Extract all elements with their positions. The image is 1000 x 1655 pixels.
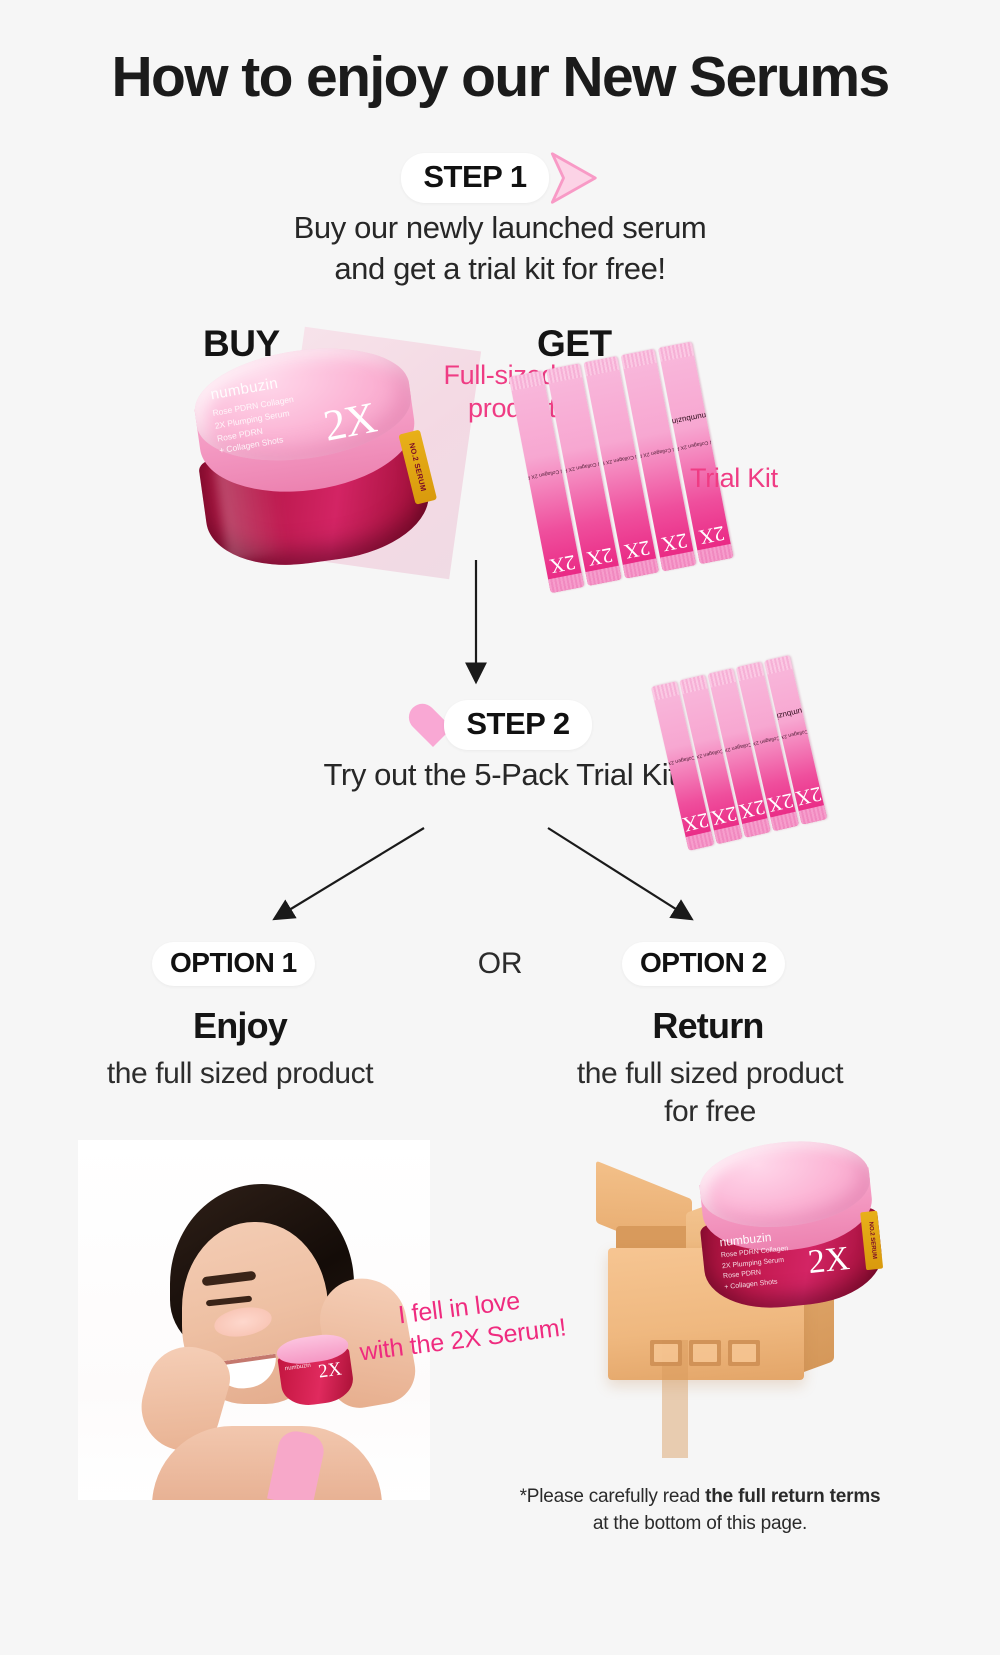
box-shipping-marks [650,1340,760,1366]
option2-badge: OPTION 2 [622,942,785,986]
page-title: How to enjoy our New Serums [0,44,1000,110]
sachet-multiplier: 2X [622,535,652,564]
step2-description: Try out the 5-Pack Trial Kit [0,757,1000,793]
step1-line2: and get a trial kit for free! [0,249,1000,290]
keep-dry-icon [689,1340,721,1366]
returned-jar-description: Rose PDRN Collagen 2X Plumping Serum Ros… [720,1242,810,1293]
sachet-multiplier: 2X [765,787,796,817]
triangle-arrow-right-icon [543,150,599,206]
sachet-multiplier: 2X [585,542,615,571]
arrow-to-option2 [548,828,690,918]
footer-disclaimer: *Please carefully read the full return t… [440,1484,960,1537]
fragile-icon [728,1340,760,1366]
footer-line1: *Please carefully read the full return t… [440,1484,960,1511]
step2-badge: STEP 2 [444,700,591,750]
sachet-multiplier: 2X [708,800,739,830]
this-side-up-icon [650,1340,682,1366]
option2-subtext-line1: the full sized product [500,1055,920,1093]
sachet-multiplier: 2X [680,807,711,837]
sachet-brand: numbuzin [772,705,808,722]
option2-subtext: the full sized product for free [500,1055,920,1130]
arrow-to-option1 [276,828,424,918]
sachet-multiplier: 2X [793,781,824,811]
footer-prefix: *Please carefully read [520,1486,706,1507]
option1-subtext: the full sized product [40,1055,440,1093]
step1-description: Buy our newly launched serum and get a t… [0,208,1000,290]
step1-badge-row: STEP 1 [0,150,1000,206]
or-label: OR [0,947,1000,981]
footer-line2: at the bottom of this page. [440,1511,960,1538]
option2-subtext-line2: for free [500,1093,920,1131]
trial-kit-sachets-secondary: Rose PDRN Collagen 2X Plumping Serum2XRo… [651,653,835,850]
returned-jar-side-tab-text: NO.2 SERUM [867,1222,877,1260]
step1-line1: Buy our newly launched serum [0,208,1000,249]
sachet-multiplier: 2X [659,527,689,556]
sachet-multiplier: 2X [547,549,577,578]
returned-jar-multiplier: 2X [806,1240,851,1282]
footer-bold-terms: the full return terms [705,1486,880,1507]
step2-badge-row: STEP 2 [0,700,1000,750]
option2-heading: Return [578,1005,838,1047]
returned-serum-jar: NO.2 SERUM numbuzin Rose PDRN Collagen 2… [692,1133,886,1315]
jar-multiplier: 2X [319,392,380,452]
infographic-canvas: How to enjoy our New Serums STEP 1 Buy o… [0,0,1000,1655]
sachet-multiplier: 2X [737,794,768,824]
step1-badge: STEP 1 [401,153,548,203]
sachet-brand: numbuzin [671,411,707,426]
sachet-multiplier: 2X [697,520,727,549]
trial-kit-note: Trial Kit [690,462,778,495]
option1-heading: Enjoy [110,1005,370,1047]
